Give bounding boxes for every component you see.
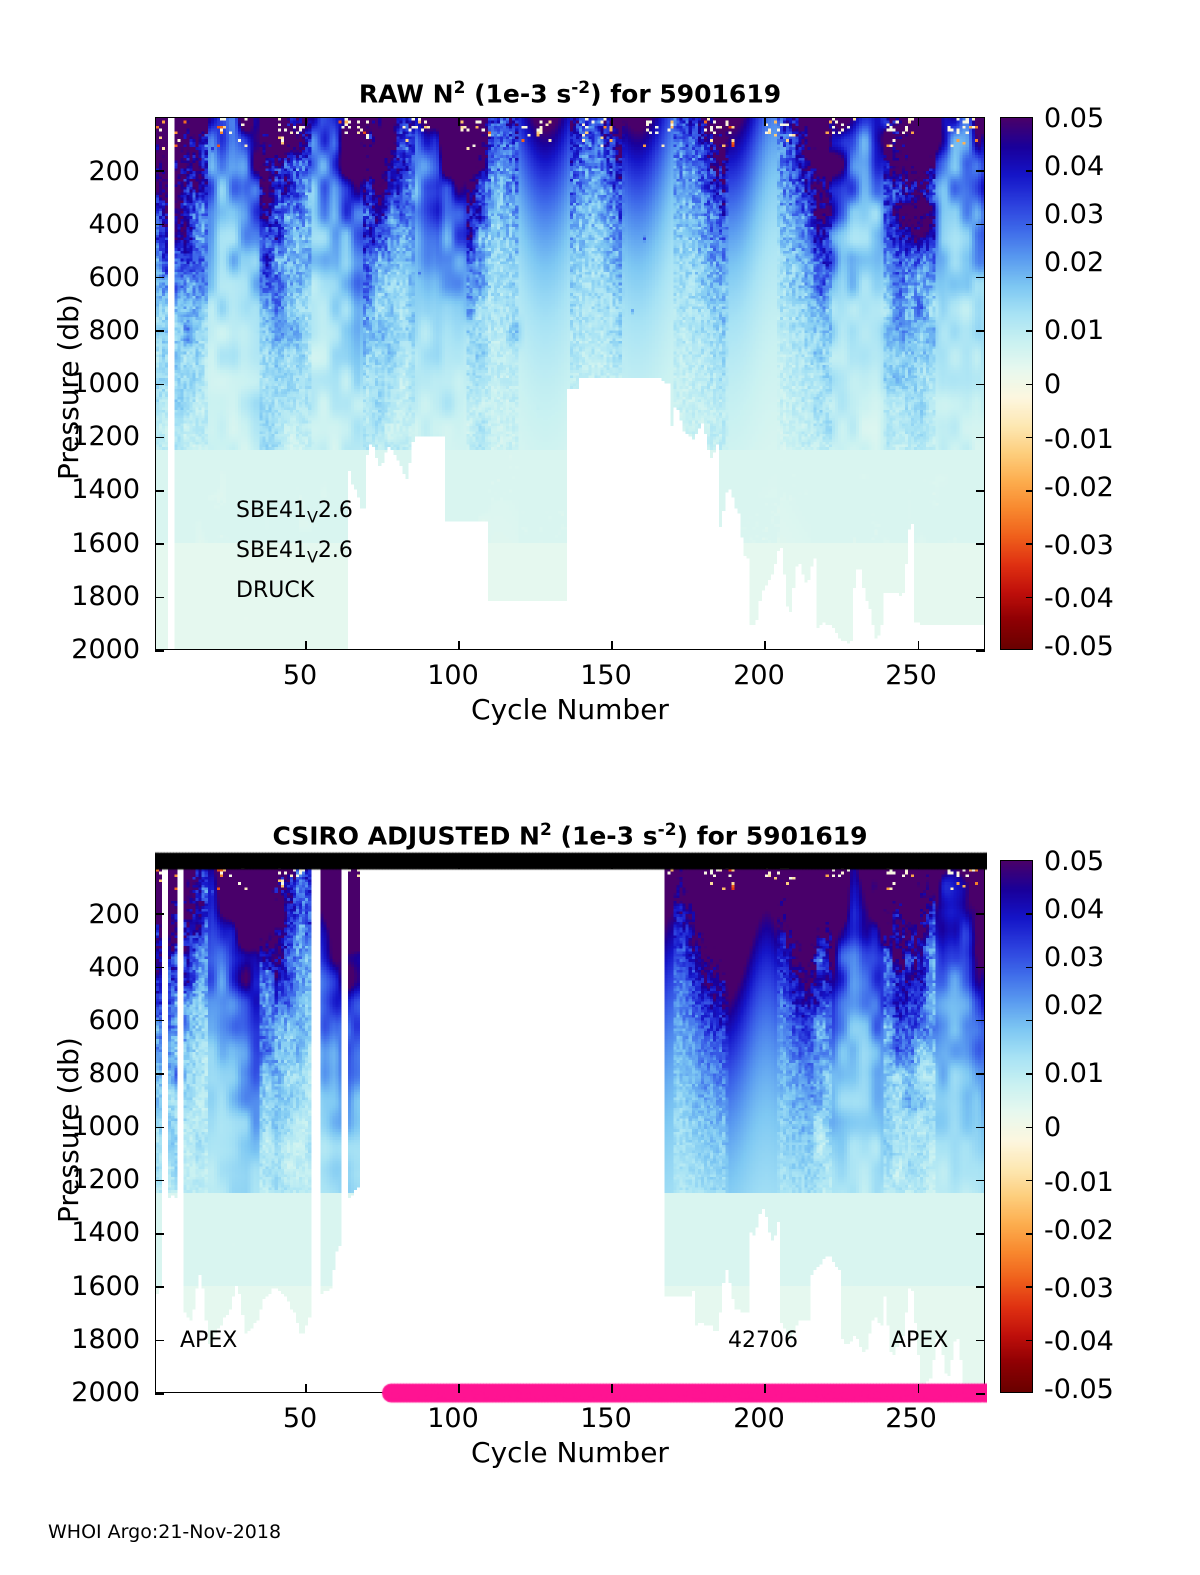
colorbar-tick-mark [1026, 1020, 1033, 1022]
adjusted-plot-area [155, 860, 985, 1393]
ytick-mark [976, 543, 985, 545]
ytick-mark [155, 384, 164, 386]
ytick-mark [155, 1127, 164, 1129]
ytick-mark [976, 650, 985, 652]
ytick-mark [155, 437, 164, 439]
adjusted-plot-title: CSIRO ADJUSTED N2 (1e-3 s-2) for 5901619 [155, 820, 985, 850]
ytick-mark [155, 1020, 164, 1022]
xtick-mark [458, 117, 460, 126]
ytick-mark [155, 967, 164, 969]
adj-ytick-200: 200 [0, 899, 140, 930]
xtick-mark [764, 641, 766, 650]
adj-cbar-label-9: -0.04 [1044, 1326, 1114, 1357]
adj-cbar-label-1: 0.04 [1044, 894, 1104, 925]
xtick-mark [764, 1384, 766, 1393]
ytick-mark [976, 1073, 985, 1075]
adj-cbar-label-5: 0 [1044, 1112, 1061, 1143]
colorbar-tick-mark [1026, 224, 1033, 226]
adj-cbar-label-3: 0.02 [1044, 990, 1104, 1021]
ytick-mark [976, 1286, 985, 1288]
ytick-mark [976, 1180, 985, 1182]
ytick-mark [976, 1393, 985, 1395]
colorbar-tick-mark [1026, 597, 1033, 599]
adjusted-yaxis-title: Pressure (db) [52, 1037, 85, 1223]
ytick-mark [155, 597, 164, 599]
adj-xtick-150: 150 [551, 1403, 661, 1434]
ytick-mark [155, 170, 164, 172]
xtick-mark [305, 641, 307, 650]
xtick-mark [918, 117, 920, 126]
xtick-mark [458, 641, 460, 650]
colorbar-tick-mark [1026, 543, 1033, 545]
colorbar-tick-mark [1026, 1073, 1033, 1075]
adj-ytick-1600: 1600 [0, 1271, 140, 1302]
ytick-mark [976, 913, 985, 915]
ytick-mark [155, 330, 164, 332]
adj-ytick-600: 600 [0, 1005, 140, 1036]
xtick-mark [611, 117, 613, 126]
xtick-mark [918, 641, 920, 650]
xtick-mark [918, 1384, 920, 1393]
colorbar-tick-mark [1026, 1233, 1033, 1235]
ytick-mark [976, 597, 985, 599]
colorbar-tick-mark [1026, 913, 1033, 915]
ytick-mark [155, 1233, 164, 1235]
adjusted-heatmap [156, 861, 984, 1392]
ytick-mark [155, 543, 164, 545]
colorbar-tick-mark [1026, 330, 1033, 332]
ytick-mark [976, 224, 985, 226]
figure-root: RAW N2 (1e-3 s-2) for 5901619 200 400 60… [0, 0, 1200, 1575]
panel-adjusted: CSIRO ADJUSTED N2 (1e-3 s-2) for 5901619… [0, 0, 1200, 1520]
colorbar-tick-mark [1026, 1180, 1033, 1182]
colorbar-tick-mark [1026, 1127, 1033, 1129]
ytick-mark [155, 1073, 164, 1075]
adj-cbar-label-10: -0.05 [1044, 1374, 1114, 1405]
ytick-mark [976, 1020, 985, 1022]
ytick-mark [155, 1340, 164, 1342]
colorbar-tick-mark [1026, 967, 1033, 969]
adj-xtick-100: 100 [398, 1403, 508, 1434]
ytick-mark [976, 437, 985, 439]
ytick-mark [976, 277, 985, 279]
colorbar-tick-mark [1026, 170, 1033, 172]
xtick-mark [458, 860, 460, 869]
adjusted-bottom-marker-row [155, 1382, 987, 1404]
adj-cbar-label-0: 0.05 [1044, 846, 1104, 877]
adj-cbar-label-8: -0.03 [1044, 1273, 1114, 1304]
xtick-mark [305, 1384, 307, 1393]
adj-xtick-200: 200 [704, 1403, 814, 1434]
ytick-mark [155, 1180, 164, 1182]
adjusted-annotation-1: 42706 [728, 1328, 798, 1353]
ytick-mark [976, 967, 985, 969]
ytick-mark [976, 384, 985, 386]
xtick-mark [305, 860, 307, 869]
adj-ytick-2000: 2000 [0, 1377, 140, 1408]
ytick-mark [155, 490, 164, 492]
xtick-mark [611, 1384, 613, 1393]
colorbar-tick-mark [1026, 490, 1033, 492]
ytick-mark [155, 913, 164, 915]
xtick-mark [458, 1384, 460, 1393]
adj-cbar-label-7: -0.02 [1044, 1215, 1114, 1246]
ytick-mark [155, 277, 164, 279]
ytick-mark [976, 1127, 985, 1129]
adjusted-xaxis-title: Cycle Number [155, 1436, 985, 1469]
xtick-mark [305, 117, 307, 126]
adjusted-annotation-0: APEX [180, 1328, 237, 1353]
ytick-mark [976, 330, 985, 332]
adjusted-top-marker-row [155, 851, 987, 871]
xtick-mark [611, 860, 613, 869]
adj-xtick-250: 250 [856, 1403, 966, 1434]
colorbar-tick-mark [1026, 277, 1033, 279]
ytick-mark [155, 1393, 164, 1395]
adj-ytick-400: 400 [0, 952, 140, 983]
adjusted-annotation-2: APEX [891, 1328, 948, 1353]
xtick-mark [764, 117, 766, 126]
adj-cbar-label-6: -0.01 [1044, 1167, 1114, 1198]
ytick-mark [976, 170, 985, 172]
adj-cbar-label-4: 0.01 [1044, 1058, 1104, 1089]
ytick-mark [155, 1286, 164, 1288]
ytick-mark [155, 224, 164, 226]
colorbar-tick-mark [1026, 384, 1033, 386]
adj-cbar-label-2: 0.03 [1044, 942, 1104, 973]
adj-ytick-1800: 1800 [0, 1324, 140, 1355]
colorbar-tick-mark [1026, 1286, 1033, 1288]
ytick-mark [976, 1340, 985, 1342]
colorbar-tick-mark [1026, 437, 1033, 439]
colorbar-tick-mark [1026, 1340, 1033, 1342]
ytick-mark [155, 650, 164, 652]
figure-footer: WHOI Argo:21-Nov-2018 [48, 1521, 281, 1543]
xtick-mark [611, 641, 613, 650]
ytick-mark [976, 1233, 985, 1235]
xtick-mark [764, 860, 766, 869]
adj-xtick-50: 50 [245, 1403, 355, 1434]
ytick-mark [976, 490, 985, 492]
xtick-mark [918, 860, 920, 869]
